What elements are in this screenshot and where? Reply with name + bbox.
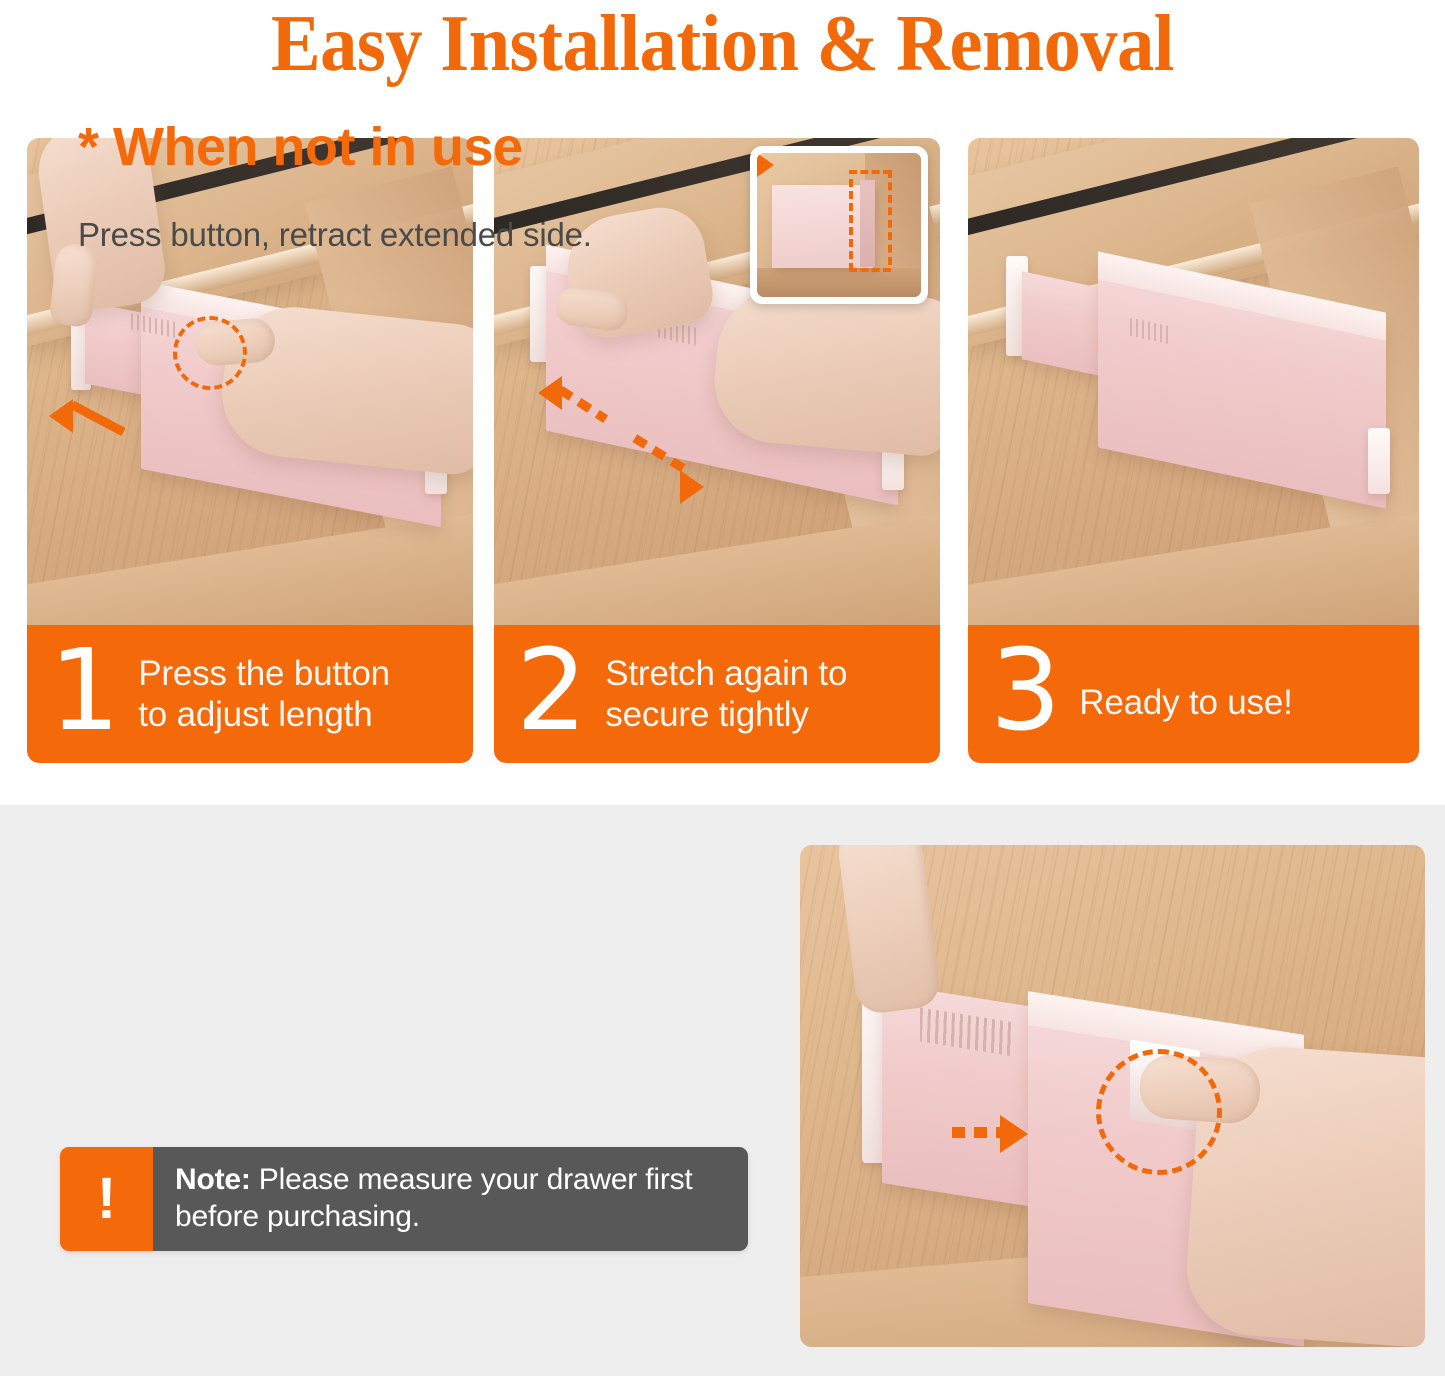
step-3-number: 3: [990, 635, 1061, 747]
inset-dashed-line-bottom: [849, 268, 892, 272]
right-hand: [710, 280, 940, 458]
section-subcopy: Press button, retract extended side.: [78, 216, 768, 254]
step-1-line-2: to adjust length: [138, 694, 390, 735]
inset-callout-box: [750, 146, 928, 304]
left-index-finger: [49, 242, 99, 328]
retract-demo-photo: [800, 845, 1425, 1347]
inset-scene: [757, 153, 921, 297]
exclamation-icon: !: [60, 1147, 153, 1251]
note-banner: ! Note: Please measure your drawer first…: [60, 1147, 748, 1251]
bottom-copy-block: * When not in use Press button, retract …: [78, 120, 768, 254]
page-title: Easy Installation & Removal: [51, 0, 1395, 90]
inset-dashed-line-top: [849, 170, 892, 174]
product-infographic: Easy Installation & Removal: [0, 0, 1445, 1376]
note-message: Please measure your drawer first before …: [175, 1163, 693, 1233]
step-2-text: Stretch again to secure tightly: [605, 653, 847, 736]
step-3-text: Ready to use!: [1079, 682, 1292, 723]
step-2-caption: 2 Stretch again to secure tightly: [494, 625, 940, 763]
step-3-line-1: Ready to use!: [1079, 683, 1292, 722]
inset-divider-edge: [860, 180, 875, 266]
inset-dashed-line-vertical-1: [849, 179, 853, 271]
step-1-number: 1: [49, 635, 120, 747]
step-2-number: 2: [516, 635, 587, 747]
dashed-circle-button-highlight: [173, 316, 247, 390]
step-3-photo: [968, 138, 1419, 625]
step-1-text: Press the button to adjust length: [138, 653, 390, 736]
step-1-line-1: Press the button: [138, 654, 390, 693]
inset-divider-panel: [772, 185, 874, 269]
inset-dashed-line-vertical-2: [888, 170, 892, 265]
step-3-caption: 3 Ready to use!: [968, 625, 1419, 763]
step-1-caption: 1 Press the button to adjust length: [27, 625, 473, 763]
note-body: Note: Please measure your drawer first b…: [153, 1147, 748, 1251]
dashed-circle-button-highlight: [1096, 1049, 1222, 1175]
divider-end-cap-right: [1368, 428, 1390, 494]
step-2-line-2: secure tightly: [605, 694, 847, 735]
step-card-3: 3 Ready to use!: [968, 138, 1419, 763]
step-2-line-1: Stretch again to: [605, 654, 847, 693]
section-subheading: * When not in use: [78, 120, 768, 174]
note-label: Note:: [175, 1163, 251, 1196]
note-text: Note: Please measure your drawer first b…: [175, 1162, 732, 1235]
divider-body-extended: [1022, 271, 1104, 376]
inset-drawer-floor: [757, 268, 921, 297]
